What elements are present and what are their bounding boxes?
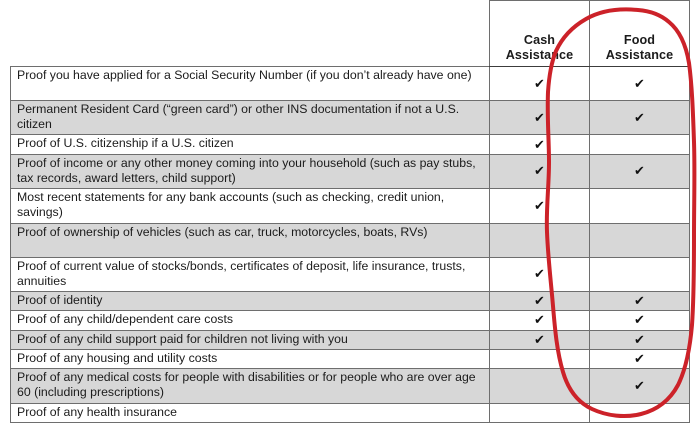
row-label: Proof you have applied for a Social Secu… — [11, 67, 490, 101]
food-assistance-check-cell: ✔ — [590, 67, 690, 101]
checkmark-icon: ✔ — [534, 164, 545, 177]
food-header-line1: Food — [624, 33, 655, 47]
checkmark-icon: ✔ — [634, 379, 645, 392]
food-assistance-check-cell — [590, 257, 690, 291]
food-assistance-check-cell: ✔ — [590, 154, 690, 188]
checkmark-icon: ✔ — [634, 111, 645, 124]
checkmark-icon: ✔ — [534, 111, 545, 124]
document-page: Cash Assistance Food Assistance Proof yo… — [0, 0, 700, 429]
table-corner-cell — [11, 1, 490, 67]
table-header-row: Cash Assistance Food Assistance — [11, 1, 690, 67]
cash-assistance-check-cell — [490, 369, 590, 403]
table-row: Proof of any health insurance — [11, 403, 690, 422]
table-row: Proof of any child support paid for chil… — [11, 330, 690, 349]
cash-assistance-check-cell — [490, 403, 590, 422]
food-assistance-check-cell — [590, 189, 690, 223]
cash-assistance-check-cell: ✔ — [490, 135, 590, 154]
checkmark-icon: ✔ — [634, 333, 645, 346]
cash-assistance-check-cell — [490, 349, 590, 368]
food-assistance-check-cell: ✔ — [590, 330, 690, 349]
cash-header-line1: Cash — [524, 33, 555, 47]
table-row: Proof of ownership of vehicles (such as … — [11, 223, 690, 257]
table-row: Proof of current value of stocks/bonds, … — [11, 257, 690, 291]
cash-assistance-check-cell: ✔ — [490, 257, 590, 291]
table-row: Proof of any child/dependent care costs✔… — [11, 311, 690, 330]
table-row: Most recent statements for any bank acco… — [11, 189, 690, 223]
food-header-line2: Assistance — [606, 48, 674, 62]
checkmark-icon: ✔ — [634, 77, 645, 90]
table-row: Proof you have applied for a Social Secu… — [11, 67, 690, 101]
checkmark-icon: ✔ — [634, 352, 645, 365]
checkmark-icon: ✔ — [534, 333, 545, 346]
table-row: Proof of identity✔✔ — [11, 292, 690, 311]
checkmark-icon: ✔ — [534, 199, 545, 212]
table-row: Proof of any medical costs for people wi… — [11, 369, 690, 403]
food-assistance-check-cell: ✔ — [590, 311, 690, 330]
eligibility-documents-table: Cash Assistance Food Assistance Proof yo… — [10, 0, 690, 423]
checkmark-icon: ✔ — [534, 267, 545, 280]
column-header-cash-assistance: Cash Assistance — [490, 1, 590, 67]
cash-assistance-check-cell: ✔ — [490, 292, 590, 311]
cash-assistance-check-cell — [490, 223, 590, 257]
table-body: Proof you have applied for a Social Secu… — [11, 67, 690, 423]
row-label: Proof of income or any other money comin… — [11, 154, 490, 188]
checkmark-icon: ✔ — [634, 294, 645, 307]
row-label: Proof of any child/dependent care costs — [11, 311, 490, 330]
table-header: Cash Assistance Food Assistance — [11, 1, 690, 67]
checkmark-icon: ✔ — [634, 313, 645, 326]
table-row: Proof of U.S. citizenship if a U.S. citi… — [11, 135, 690, 154]
table-row: Permanent Resident Card (“green card”) o… — [11, 101, 690, 135]
column-header-food-assistance: Food Assistance — [590, 1, 690, 67]
row-label: Proof of U.S. citizenship if a U.S. citi… — [11, 135, 490, 154]
table-row: Proof of any housing and utility costs✔ — [11, 349, 690, 368]
food-assistance-check-cell: ✔ — [590, 369, 690, 403]
cash-assistance-check-cell: ✔ — [490, 189, 590, 223]
cash-assistance-check-cell: ✔ — [490, 311, 590, 330]
cash-header-line2: Assistance — [506, 48, 574, 62]
food-assistance-check-cell: ✔ — [590, 349, 690, 368]
checkmark-icon: ✔ — [534, 294, 545, 307]
food-assistance-check-cell: ✔ — [590, 101, 690, 135]
row-label: Proof of any medical costs for people wi… — [11, 369, 490, 403]
checkmark-icon: ✔ — [534, 138, 545, 151]
row-label: Proof of identity — [11, 292, 490, 311]
food-assistance-check-cell — [590, 223, 690, 257]
checkmark-icon: ✔ — [534, 77, 545, 90]
food-assistance-check-cell: ✔ — [590, 292, 690, 311]
checkmark-icon: ✔ — [534, 313, 545, 326]
cash-assistance-check-cell: ✔ — [490, 154, 590, 188]
cash-assistance-check-cell: ✔ — [490, 330, 590, 349]
row-label: Most recent statements for any bank acco… — [11, 189, 490, 223]
cash-assistance-check-cell: ✔ — [490, 101, 590, 135]
row-label: Permanent Resident Card (“green card”) o… — [11, 101, 490, 135]
row-label: Proof of current value of stocks/bonds, … — [11, 257, 490, 291]
row-label: Proof of any child support paid for chil… — [11, 330, 490, 349]
row-label: Proof of ownership of vehicles (such as … — [11, 223, 490, 257]
cash-assistance-check-cell: ✔ — [490, 67, 590, 101]
row-label: Proof of any housing and utility costs — [11, 349, 490, 368]
checkmark-icon: ✔ — [634, 164, 645, 177]
food-assistance-check-cell — [590, 135, 690, 154]
food-assistance-check-cell — [590, 403, 690, 422]
row-label: Proof of any health insurance — [11, 403, 490, 422]
table-row: Proof of income or any other money comin… — [11, 154, 690, 188]
